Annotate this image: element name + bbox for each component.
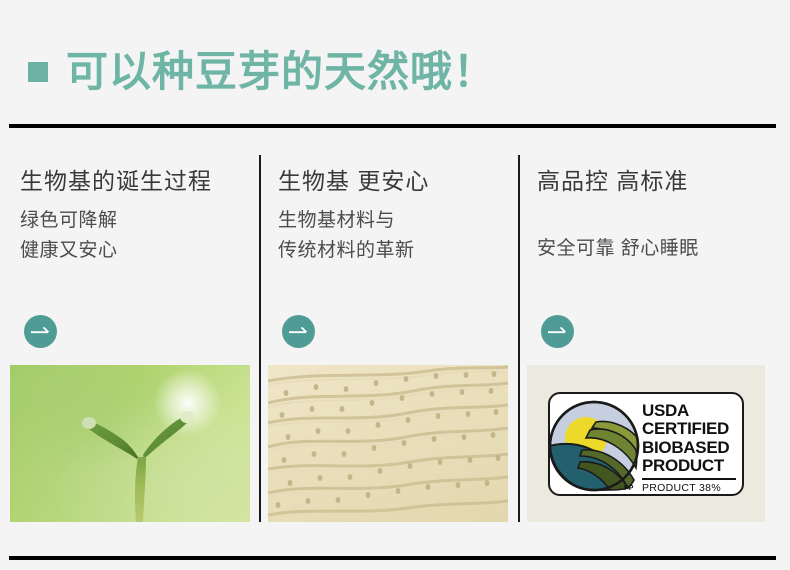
badge-line-biobased: BIOBASED	[642, 439, 740, 458]
badge-text-block: USDA CERTIFIED BIOBASED PRODUCT PRODUCT …	[642, 402, 740, 494]
arrow-right-icon	[282, 315, 315, 348]
badge-fp-mark: FP	[624, 485, 634, 492]
column-1-body: 绿色可降解 健康又安心	[20, 206, 118, 266]
latex-foam-texture-photo	[268, 365, 508, 522]
badge-frame: USDA CERTIFIED BIOBASED PRODUCT PRODUCT …	[548, 392, 744, 496]
column-1-body-line-2: 健康又安心	[20, 236, 118, 266]
usda-badge-tile: USDA CERTIFIED BIOBASED PRODUCT PRODUCT …	[527, 365, 765, 522]
arrow-right-icon	[24, 315, 57, 348]
page-title-text: 可以种豆芽的天然哦！	[66, 51, 496, 93]
biobased-emblem-icon	[546, 398, 642, 494]
latex-foam-tile	[268, 365, 508, 522]
sprout-photo-tile	[10, 365, 250, 522]
square-bullet-icon	[28, 62, 48, 82]
column-2-body-line-2: 传统材料的革新	[278, 236, 415, 266]
sprout-illustration	[10, 365, 250, 522]
column-1-heading: 生物基的诞生过程	[20, 162, 212, 196]
promo-page: 可以种豆芽的天然哦！ 生物基的诞生过程 绿色可降解 健康又安心 生物基 更安心	[0, 0, 790, 570]
column-1-body-line-1: 绿色可降解	[20, 206, 118, 236]
divider-bottom	[9, 556, 776, 560]
badge-line-usda: USDA	[642, 402, 740, 421]
page-title: 可以种豆芽的天然哦！	[28, 44, 496, 100]
column-2-body-line-1: 生物基材料与	[278, 206, 415, 236]
column-3-body: 安全可靠 舒心睡眠	[537, 234, 699, 264]
usda-biobased-badge: USDA CERTIFIED BIOBASED PRODUCT PRODUCT …	[527, 365, 765, 522]
badge-line-certified: CERTIFIED	[642, 420, 740, 439]
column-3-arrow-button[interactable]	[541, 315, 574, 348]
media-tiles: USDA CERTIFIED BIOBASED PRODUCT PRODUCT …	[0, 365, 790, 523]
foam-wave-pattern	[268, 365, 508, 522]
column-2-heading: 生物基 更安心	[278, 162, 429, 196]
column-2-body: 生物基材料与 传统材料的革新	[278, 206, 415, 266]
badge-underline	[642, 478, 736, 480]
column-2-arrow-button[interactable]	[282, 315, 315, 348]
divider-top	[9, 124, 776, 128]
green-sprout-photo	[10, 365, 250, 522]
badge-subtitle: PRODUCT 38%	[642, 482, 740, 494]
arrow-right-icon	[541, 315, 574, 348]
column-1-arrow-button[interactable]	[24, 315, 57, 348]
column-3-body-line-1: 安全可靠 舒心睡眠	[537, 234, 699, 264]
badge-line-product: PRODUCT	[642, 457, 740, 476]
column-3-heading: 高品控 高标准	[537, 162, 688, 196]
